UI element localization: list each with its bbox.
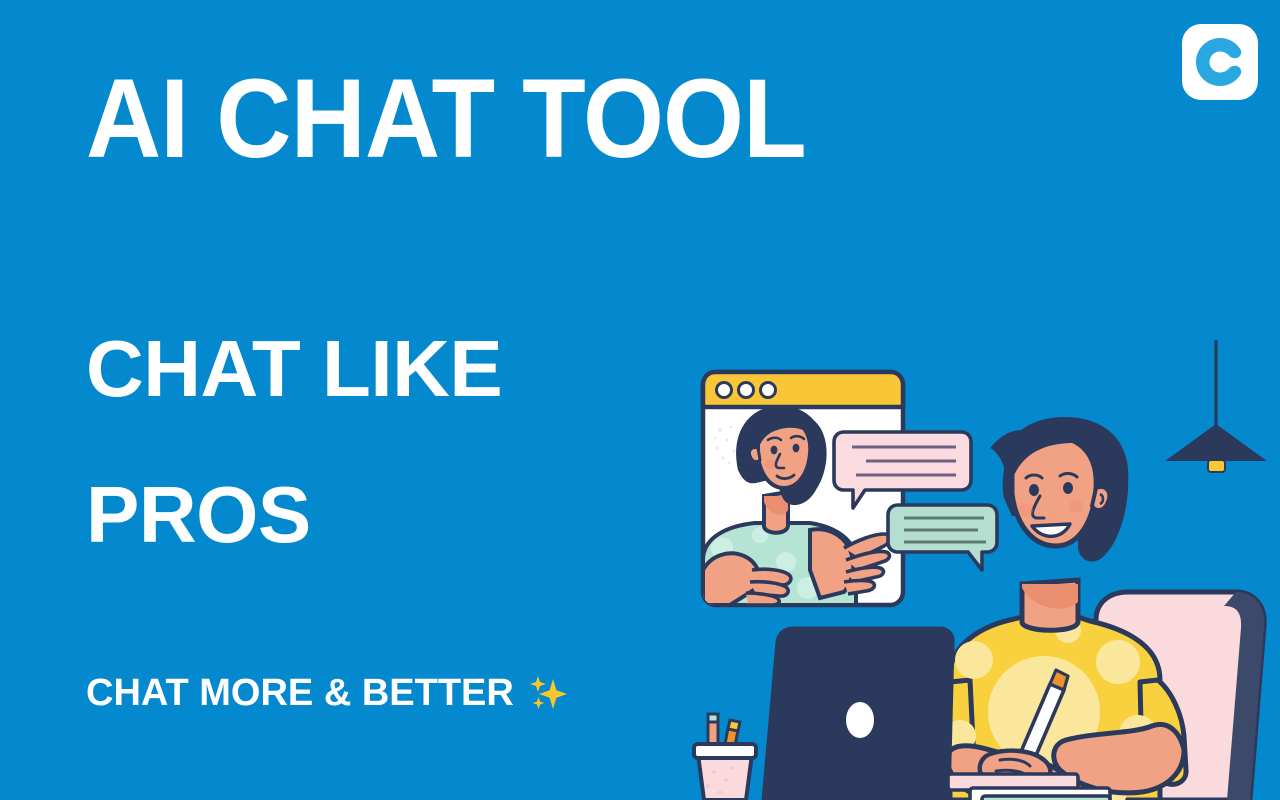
laptop-logo-icon <box>846 702 874 738</box>
pencil-cup-icon <box>694 714 756 800</box>
video-chat-illustration <box>660 330 1280 800</box>
pendant-lamp-icon <box>1165 340 1267 472</box>
laptop-icon <box>764 629 952 800</box>
tagline-text: CHAT MORE & BETTER <box>86 672 514 715</box>
page-title: AI CHAT TOOL <box>86 63 806 175</box>
window-dot-3-icon <box>761 383 776 398</box>
brand-logo-badge[interactable] <box>1182 24 1258 100</box>
window-dot-2-icon <box>739 383 754 398</box>
subheading: CHAT LIKE PROS <box>86 296 502 587</box>
sparkles-icon <box>526 671 570 715</box>
window-dot-1-icon <box>717 383 732 398</box>
subheading-line-1: CHAT LIKE <box>86 296 502 442</box>
ai-chat-tool-banner: AI CHAT TOOL CHAT LIKE PROS CHAT MORE & … <box>0 0 1280 800</box>
tagline: CHAT MORE & BETTER <box>86 671 570 715</box>
brand-logo-c-icon <box>1194 36 1246 88</box>
subheading-line-2: PROS <box>86 442 502 588</box>
